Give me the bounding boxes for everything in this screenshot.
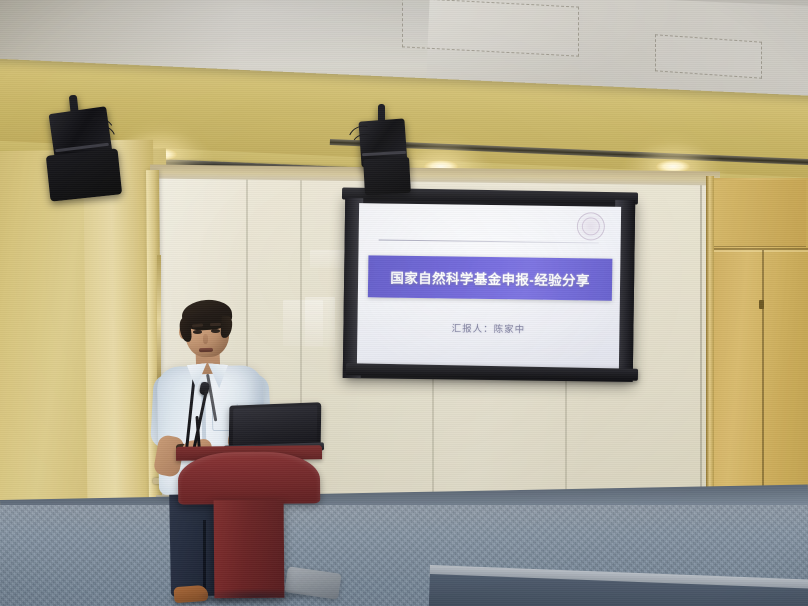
slide-presenter-text: 汇报人：陈家中 [357,319,619,337]
right-wood-upper-panel [714,180,806,247]
ceiling-access-panel [402,0,579,57]
projected-slide: 国家自然科学基金申报-经验分享 汇报人：陈家中 [357,203,621,372]
ceiling-access-panel [655,34,762,78]
podium-column [214,500,285,599]
door-hinge-strip [157,255,161,385]
wall-panel-seam [700,176,702,526]
slide-title-text: 国家自然科学基金申报-经验分享 [390,267,590,290]
podium-front-panel [178,451,321,504]
podium-shadow [196,588,316,604]
speaker-eyebrow [210,323,221,326]
speaker-eye [211,329,220,333]
window-reflection [305,297,335,347]
panel-latch-icon[interactable] [759,300,764,309]
wall-corner-edge [706,176,714,528]
slide-title-band: 国家自然科学基金申报-经验分享 [368,255,613,300]
slide-divider-line [379,239,599,243]
speaker-nose [203,334,208,344]
wood-panel-seam-highlight [712,250,808,252]
university-seal-icon [577,212,605,240]
laptop-screen [233,405,317,445]
speaker-mouth [199,348,213,352]
presentation-photo-scene: 国家自然科学基金申报-经验分享 汇报人：陈家中 [0,0,808,606]
speaker-eye [193,330,202,334]
stage-light-barn-door [363,157,411,195]
stage-light-barn-door [46,148,122,201]
